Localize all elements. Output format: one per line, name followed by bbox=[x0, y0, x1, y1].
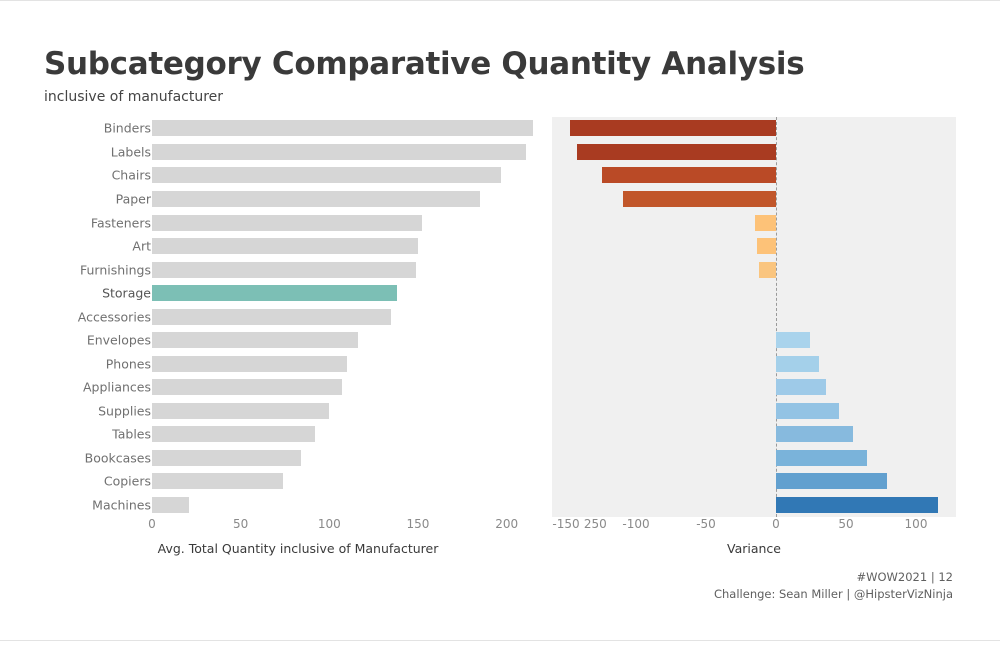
row-label-accessories[interactable]: Accessories bbox=[78, 309, 151, 324]
axis-tick: 100 bbox=[318, 517, 341, 531]
table-row: Appliances bbox=[44, 376, 956, 399]
quantity-bar-accessories[interactable] bbox=[152, 309, 391, 325]
row-label-copiers[interactable]: Copiers bbox=[104, 474, 151, 489]
row-label-storage[interactable]: Storage bbox=[102, 286, 151, 301]
quantity-axis: Avg. Total Quantity inclusive of Manufac… bbox=[44, 517, 552, 557]
variance-bar-phones[interactable] bbox=[776, 356, 819, 372]
table-row: Art bbox=[44, 235, 956, 258]
quantity-bar-copiers[interactable] bbox=[152, 473, 283, 489]
quantity-bar-paper[interactable] bbox=[152, 191, 480, 207]
quantity-bar-art[interactable] bbox=[152, 238, 418, 254]
variance-bar-binders[interactable] bbox=[570, 120, 776, 136]
row-label-paper[interactable]: Paper bbox=[116, 191, 151, 206]
table-row: Fasteners bbox=[44, 211, 956, 234]
quantity-bar-labels[interactable] bbox=[152, 144, 526, 160]
table-row: Accessories bbox=[44, 305, 956, 328]
axis-tick: 0 bbox=[148, 517, 156, 531]
axis-tick: -100 bbox=[622, 517, 649, 531]
charts-container: BindersLabelsChairsPaperFastenersArtFurn… bbox=[44, 117, 956, 517]
row-label-art[interactable]: Art bbox=[132, 239, 151, 254]
quantity-bar-tables[interactable] bbox=[152, 426, 315, 442]
axis-tick: 100 bbox=[905, 517, 928, 531]
quantity-bar-machines[interactable] bbox=[152, 497, 189, 513]
axis-tick: -150 bbox=[552, 517, 579, 531]
row-label-furnishings[interactable]: Furnishings bbox=[80, 262, 151, 277]
quantity-bar-chairs[interactable] bbox=[152, 167, 501, 183]
variance-bar-machines[interactable] bbox=[776, 497, 938, 513]
variance-axis-title: Variance bbox=[552, 541, 956, 556]
variance-axis: Variance -150-100-50050100 bbox=[552, 517, 956, 557]
variance-bar-labels[interactable] bbox=[577, 144, 776, 160]
row-label-binders[interactable]: Binders bbox=[104, 121, 151, 136]
quantity-bar-binders[interactable] bbox=[152, 120, 533, 136]
footer-credits: #WOW2021 | 12 Challenge: Sean Miller | @… bbox=[714, 569, 953, 603]
variance-bar-tables[interactable] bbox=[776, 426, 853, 442]
quantity-bar-phones[interactable] bbox=[152, 356, 347, 372]
axis-tick: 50 bbox=[233, 517, 248, 531]
variance-bar-copiers[interactable] bbox=[776, 473, 887, 489]
axis-tick: 0 bbox=[772, 517, 780, 531]
variance-bar-envelopes[interactable] bbox=[776, 332, 810, 348]
table-row: Bookcases bbox=[44, 446, 956, 469]
table-row: Binders bbox=[44, 117, 956, 140]
table-row: Paper bbox=[44, 188, 956, 211]
quantity-bar-appliances[interactable] bbox=[152, 379, 342, 395]
table-row: Supplies bbox=[44, 399, 956, 422]
dashboard-canvas: Subcategory Comparative Quantity Analysi… bbox=[0, 0, 1000, 640]
table-row: Machines bbox=[44, 493, 956, 516]
quantity-bar-fasteners[interactable] bbox=[152, 215, 422, 231]
quantity-bar-bookcases[interactable] bbox=[152, 450, 301, 466]
variance-bar-art[interactable] bbox=[757, 238, 776, 254]
bottom-border bbox=[0, 640, 1000, 641]
page-title: Subcategory Comparative Quantity Analysi… bbox=[44, 46, 804, 82]
axis-tick: 200 bbox=[495, 517, 518, 531]
table-row: Chairs bbox=[44, 164, 956, 187]
row-label-bookcases[interactable]: Bookcases bbox=[85, 450, 151, 465]
row-label-appliances[interactable]: Appliances bbox=[83, 380, 151, 395]
quantity-bar-supplies[interactable] bbox=[152, 403, 329, 419]
variance-bar-supplies[interactable] bbox=[776, 403, 839, 419]
variance-bar-paper[interactable] bbox=[623, 191, 776, 207]
variance-bar-fasteners[interactable] bbox=[755, 215, 776, 231]
quantity-axis-title: Avg. Total Quantity inclusive of Manufac… bbox=[44, 541, 552, 556]
table-row: Furnishings bbox=[44, 258, 956, 281]
row-label-phones[interactable]: Phones bbox=[106, 356, 151, 371]
axis-tick: 150 bbox=[407, 517, 430, 531]
footer-line-author: Challenge: Sean Miller | @HipsterVizNinj… bbox=[714, 586, 953, 603]
table-row: Tables bbox=[44, 423, 956, 446]
axis-tick: 50 bbox=[838, 517, 853, 531]
variance-bar-bookcases[interactable] bbox=[776, 450, 867, 466]
table-row: Copiers bbox=[44, 470, 956, 493]
page-subtitle: inclusive of manufacturer bbox=[44, 89, 223, 105]
row-label-labels[interactable]: Labels bbox=[111, 144, 151, 159]
table-row: Envelopes bbox=[44, 329, 956, 352]
variance-bar-chairs[interactable] bbox=[602, 167, 776, 183]
bar-rows: BindersLabelsChairsPaperFastenersArtFurn… bbox=[44, 117, 956, 517]
row-label-machines[interactable]: Machines bbox=[92, 497, 151, 512]
table-row: Phones bbox=[44, 352, 956, 375]
quantity-bar-storage[interactable] bbox=[152, 285, 397, 301]
row-label-supplies[interactable]: Supplies bbox=[98, 403, 151, 418]
axis-tick: -50 bbox=[696, 517, 716, 531]
quantity-bar-envelopes[interactable] bbox=[152, 332, 358, 348]
table-row: Storage bbox=[44, 282, 956, 305]
row-label-fasteners[interactable]: Fasteners bbox=[91, 215, 151, 230]
table-row: Labels bbox=[44, 141, 956, 164]
row-label-envelopes[interactable]: Envelopes bbox=[87, 333, 151, 348]
footer-line-challenge-tag: #WOW2021 | 12 bbox=[714, 569, 953, 586]
row-label-chairs[interactable]: Chairs bbox=[112, 168, 151, 183]
variance-bar-appliances[interactable] bbox=[776, 379, 826, 395]
row-label-tables[interactable]: Tables bbox=[112, 427, 151, 442]
quantity-bar-furnishings[interactable] bbox=[152, 262, 416, 278]
variance-bar-furnishings[interactable] bbox=[759, 262, 776, 278]
